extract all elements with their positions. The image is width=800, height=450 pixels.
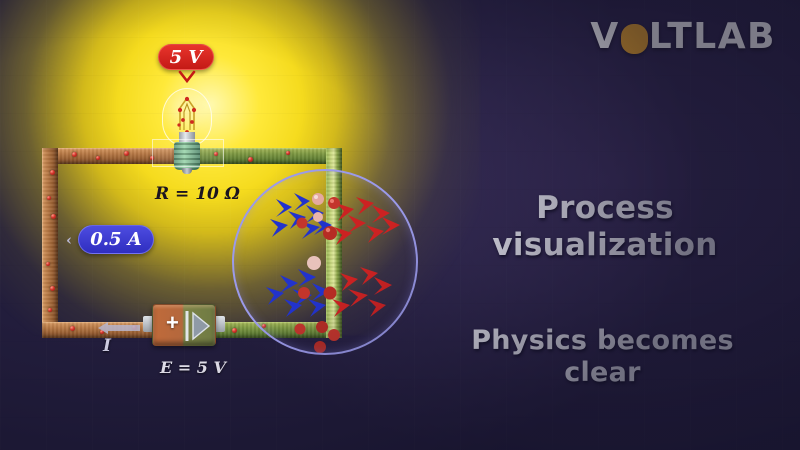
logo-letter-v: V	[590, 16, 619, 57]
electron-dot	[51, 214, 56, 219]
electron-dot	[72, 152, 77, 157]
magnifier-lens-ring[interactable]	[232, 169, 418, 355]
voltage-pointer-icon	[178, 70, 196, 84]
brand-logo: V LTLAB	[590, 16, 776, 57]
headline-secondary: Physics becomes clear	[405, 325, 800, 389]
bulb-contact-tip	[182, 168, 192, 174]
current-direction-arrow-icon: ‹	[66, 231, 72, 249]
headline-line-4: clear	[405, 357, 800, 389]
electron-dot	[232, 328, 237, 333]
logo-letters-ltlab: LTLAB	[649, 16, 776, 57]
voltage-badge[interactable]: 5 V	[158, 44, 214, 70]
battery-diode-icon	[183, 309, 215, 343]
current-badge-label: 0.5 A	[90, 229, 142, 250]
electron-dot	[286, 151, 290, 155]
electron-dot	[50, 286, 55, 291]
headline-line-1: Process	[420, 190, 790, 227]
logo-letter-o-icon	[621, 24, 648, 54]
resistance-label: R = 10 Ω	[155, 184, 240, 204]
electron-dot	[96, 156, 100, 160]
electron-dot	[70, 326, 75, 331]
electron-dot	[124, 151, 129, 156]
resistor-highlight-box	[152, 139, 224, 167]
electron-dot	[48, 308, 52, 312]
headline-line-2: visualization	[420, 227, 790, 264]
voltage-badge-label: 5 V	[170, 47, 203, 68]
headline-line-3: Physics becomes	[405, 325, 800, 357]
current-flow-arrow-icon	[96, 320, 142, 336]
headline-primary: Process visualization	[420, 190, 790, 263]
electron-dot	[50, 170, 55, 175]
battery-plus-symbol: +	[166, 315, 182, 333]
current-symbol-label: I	[103, 336, 111, 356]
electron-dot	[248, 157, 253, 162]
battery-cell: +	[152, 304, 216, 346]
scene-stage: 5 V R = 10 Ω ‹ 0.5 A + E = 5 V I	[0, 0, 800, 450]
current-badge[interactable]: ‹ 0.5 A	[78, 225, 154, 254]
emf-label: E = 5 V	[160, 358, 226, 377]
electron-dot	[47, 196, 51, 200]
electron-dot	[46, 262, 50, 266]
